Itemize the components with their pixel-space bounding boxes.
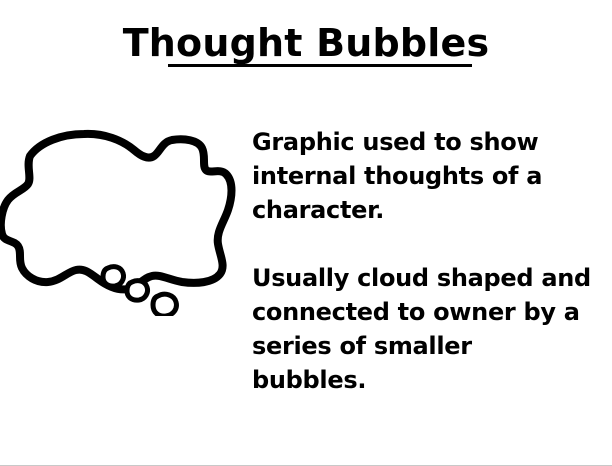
- trail-bubble-1: [103, 267, 124, 287]
- paragraph-spacer: [252, 227, 612, 261]
- body-line: connected to owner by a: [252, 298, 580, 326]
- thought-bubble-graphic: [0, 126, 236, 316]
- trail-bubble-2: [127, 281, 148, 301]
- body-line: series of smaller: [252, 332, 472, 360]
- paragraph-description: Usually cloud shaped and connected to ow…: [252, 261, 612, 397]
- thought-bubble-svg: [0, 126, 236, 316]
- title-underline: [168, 64, 472, 67]
- page-title: Thought Bubbles: [0, 21, 612, 65]
- body-text-block: Graphic used to show internal thoughts o…: [252, 125, 612, 397]
- body-line: Usually cloud shaped and: [252, 264, 591, 292]
- trail-bubble-3: [153, 294, 176, 316]
- body-line: internal thoughts of a: [252, 162, 542, 190]
- paragraph-definition: Graphic used to show internal thoughts o…: [252, 125, 612, 227]
- slide-canvas: Thought Bubbles Graphic used to show int…: [0, 0, 612, 466]
- body-line: bubbles.: [252, 366, 366, 394]
- body-line: Graphic used to show: [252, 128, 538, 156]
- body-line: character.: [252, 196, 384, 224]
